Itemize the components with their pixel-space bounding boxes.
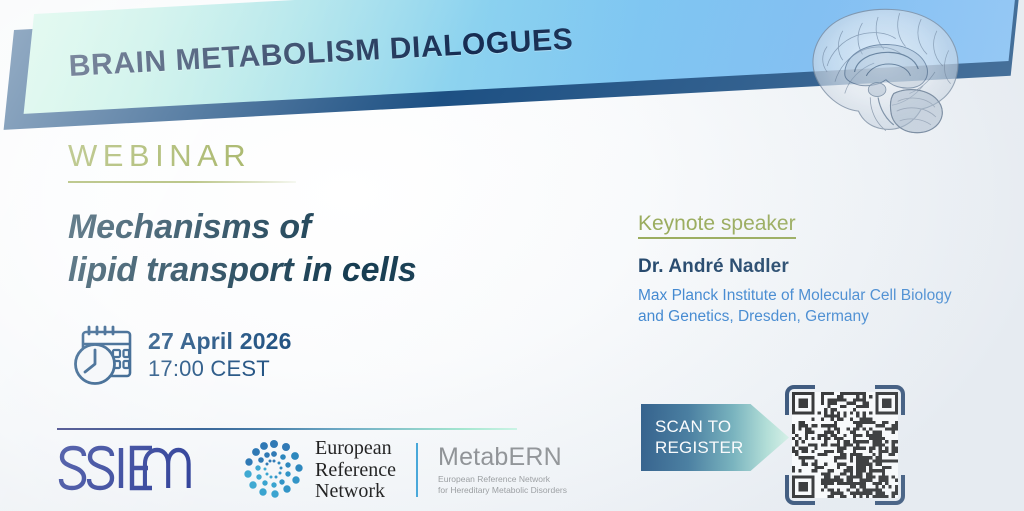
qr-bracket-top-right bbox=[875, 385, 905, 415]
logo-row: European Reference Network MetabERN Euro… bbox=[57, 438, 567, 503]
calendar-clock-icon bbox=[70, 322, 134, 388]
event-time: 17:00 CEST bbox=[148, 356, 292, 382]
webinar-poster: BRAIN METABOLISM DIALOGUES bbox=[0, 0, 1024, 511]
metabern-logo: MetabERN European Reference Network for … bbox=[438, 445, 567, 496]
event-datetime: 27 April 2026 17:00 CEST bbox=[70, 322, 292, 388]
ern-dot-swirl-icon bbox=[243, 439, 305, 501]
qr-bracket-bottom-left bbox=[785, 475, 815, 505]
scan-to-register-banner[interactable]: SCAN TO REGISTER bbox=[641, 404, 789, 471]
qr-bracket-top-left bbox=[785, 385, 815, 415]
speaker-affiliation: Max Planck Institute of Molecular Cell B… bbox=[638, 285, 968, 328]
webinar-label-block: WEBINAR bbox=[68, 140, 296, 183]
scan-to-register-label: SCAN TO REGISTER bbox=[655, 417, 744, 458]
footer-divider bbox=[57, 428, 517, 430]
scan-cta-line-2: REGISTER bbox=[655, 438, 744, 459]
metabern-tagline: European Reference Network for Hereditar… bbox=[438, 474, 567, 496]
scan-cta-line-1: SCAN TO bbox=[655, 417, 744, 438]
ern-word-line-2: Reference bbox=[315, 460, 396, 482]
ern-word-line-1: European bbox=[315, 438, 396, 460]
webinar-underline bbox=[68, 181, 296, 183]
talk-title-line-1: Mechanisms of bbox=[68, 206, 416, 249]
speaker-name: Dr. André Nadler bbox=[638, 256, 968, 278]
header-banner: BRAIN METABOLISM DIALOGUES bbox=[0, 0, 1024, 146]
talk-title-line-2: lipid transport in cells bbox=[68, 249, 416, 292]
logo-divider bbox=[416, 443, 418, 497]
european-reference-network-logo: European Reference Network MetabERN Euro… bbox=[243, 438, 567, 503]
event-datetime-text: 27 April 2026 17:00 CEST bbox=[148, 328, 292, 382]
metabern-wordmark: MetabERN bbox=[438, 445, 567, 470]
qr-bracket-bottom-right bbox=[875, 475, 905, 505]
registration-qr-code[interactable] bbox=[792, 392, 898, 498]
brain-illustration bbox=[784, 0, 980, 144]
webinar-label: WEBINAR bbox=[68, 140, 296, 171]
talk-title: Mechanisms of lipid transport in cells bbox=[68, 206, 416, 291]
metabern-tagline-line-2: for Hereditary Metabolic Disorders bbox=[438, 485, 567, 496]
keynote-speaker-heading: Keynote speaker bbox=[638, 212, 796, 239]
ern-wordmark: European Reference Network bbox=[315, 438, 396, 503]
ssiem-logo bbox=[57, 442, 197, 498]
ern-word-line-3: Network bbox=[315, 481, 396, 503]
event-date: 27 April 2026 bbox=[148, 328, 292, 356]
metabern-tagline-line-1: European Reference Network bbox=[438, 474, 567, 485]
keynote-speaker-block: Keynote speaker Dr. André Nadler Max Pla… bbox=[638, 212, 968, 328]
